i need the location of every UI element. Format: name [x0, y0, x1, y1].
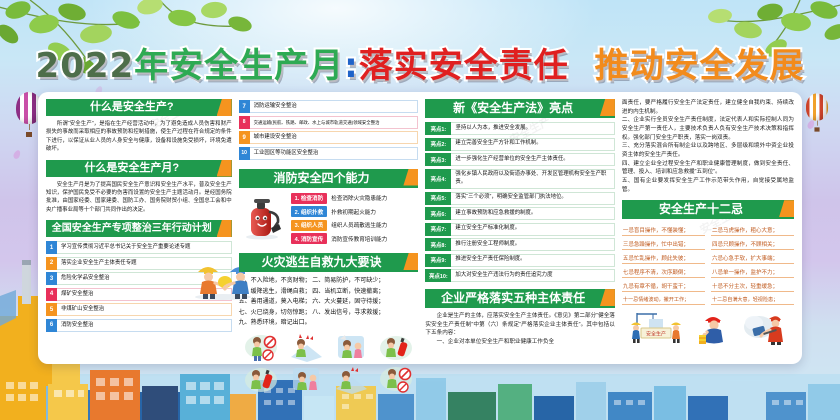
highlight-label: 亮点8:	[425, 238, 451, 251]
section-header-four-abilities: 消防安全四个能力	[239, 169, 419, 188]
item-label: 消防运输安全整治	[250, 100, 419, 113]
highlight-row[interactable]: 亮点3: 进一步强化生产经营单位的安全生产主体责任。	[425, 153, 614, 166]
ability-tag: 3. 组织人员	[291, 220, 328, 231]
what-is-safety-production-body: 所谓“安全生产”，是指在生产经营活动中，为了避免造成人员伤害和财产损失的事故而采…	[46, 120, 232, 154]
foreground-buildings	[0, 360, 230, 420]
item-number: 4	[46, 288, 57, 301]
safety-figure-row-1	[239, 333, 419, 363]
four-abilities-block: 1. 检查消防 检查消除火灾隐患能力 2. 组织扑救 扑救初期起火能力 3. 组…	[239, 193, 419, 245]
item-label: 消防安全整治	[57, 319, 232, 332]
ability-tag: 1. 检查消防	[291, 193, 328, 204]
child-warning-icon	[379, 365, 413, 395]
highlight-row[interactable]: 亮点8: 推行注册安全工程师制度。	[425, 238, 614, 251]
child-warning-icon	[244, 333, 278, 363]
ability-tag: 4. 消防宣传	[291, 233, 328, 244]
fire-extinguisher-icon	[239, 196, 285, 240]
ability-desc: 扑救初期起火能力	[331, 208, 376, 216]
highlight-row[interactable]: 亮点4: 强化乡镇人民政府以及街道办事处、开发区管理机构安全生产职责。	[425, 169, 614, 190]
ability-desc: 组织人员疏散逃生能力	[331, 221, 387, 229]
highlight-row[interactable]: 亮点10: 加大对安全生产违法行为的责任追究力度	[425, 269, 614, 282]
taboo-item: 三忌急躁操作，忙中出错；	[622, 238, 705, 250]
taboo-item: 五忌忙乱操作，顾此失彼；	[622, 252, 705, 264]
firefighter-icon	[743, 311, 789, 345]
item-number: 3	[46, 272, 57, 285]
five-duties-first-item: 一、企业对本单位安全生产和职业健康工作负全	[425, 338, 614, 347]
child-caution-icon	[289, 365, 323, 395]
list-item[interactable]: 9 城市建设安全整治	[239, 131, 419, 144]
what-is-safety-month-body: 安全生产月是为了提高国民安全生产意识和安全生产水平，普及安全生产知识，保护国民免…	[46, 181, 232, 215]
item-number: 9	[239, 131, 250, 144]
tip-line: 五、善用通道，莫入电梯； 六、大火蔓延，固守待援；	[239, 297, 419, 308]
law-highlights-list: 亮点1: 坚持以人为本，推进安全发展。 亮点2: 建立完善安全生产方针和工作机制…	[425, 122, 614, 282]
section-header-twelve-taboos: 安全生产十二忌	[622, 200, 794, 219]
taboo-item: 七忌程序不清，次序颠倒；	[622, 266, 705, 278]
section-header-three-year-plan: 全国安全生产专项整治三年行动计划	[46, 220, 232, 237]
taboo-item: 十二忌自满大意，轻视险患；	[711, 294, 794, 305]
section-header-nine-escape-tips: 火灾逃生自救九大要诀	[239, 253, 419, 272]
highlight-text: 强化乡镇人民政府以及街道办事处、开发区管理机构安全生产职责。	[451, 169, 614, 190]
highlight-text: 坚持以人为本，推进安全发展。	[451, 122, 614, 135]
highlight-row[interactable]: 亮点5: 落实“三个必须”，明确安全监管部门执法地位。	[425, 192, 614, 205]
tip-line: 九、熟悉环境，暗记出口。	[239, 318, 419, 329]
ability-desc: 检查消除火灾隐患能力	[331, 194, 387, 202]
highlight-label: 亮点3:	[425, 153, 451, 166]
three-year-plan-list-continued: 7 消防运输安全整治 8 交通运输(民航、铁路、邮政、水上与城市轨道交通)领域安…	[239, 100, 419, 160]
column-safety-basics: 什么是安全生产? 所谓“安全生产”，是指在生产经营活动中，为了避免造成人员伤害和…	[46, 99, 232, 357]
taboo-item: 一忌盲目操作，不懂装懂；	[622, 224, 705, 236]
section-header-what-is-safety-production: 什么是安全生产?	[46, 99, 232, 116]
safety-figure-row-2	[239, 365, 419, 395]
list-item[interactable]: 10 工业园区等功能区安全整治	[239, 147, 419, 160]
title-year: 2022	[36, 46, 135, 86]
five-duties-continued-body: 面责任，要严格履行安全生产法定责任，建立健全自我约束、持续改进的内生机制。 二、…	[622, 99, 794, 194]
highlight-row[interactable]: 亮点2: 建立完善安全生产方针和工作机制。	[425, 138, 614, 151]
ability-desc: 消防宣传教育培训能力	[331, 235, 387, 243]
item-label: 交通运输(民航、铁路、邮政、水上与城市轨道交通)领域安全整治	[250, 116, 419, 129]
highlight-label: 亮点4:	[425, 169, 451, 190]
section-header-law-highlights: 新《安全生产法》亮点	[425, 99, 614, 118]
highlight-text: 加大对安全生产违法行为的责任追究力度	[451, 269, 614, 282]
ability-tag: 2. 组织扑救	[291, 206, 328, 217]
item-number: 1	[46, 241, 57, 254]
taboo-item: 四忌只顾操作，不顾相关；	[711, 238, 794, 250]
item-label: 城市建设安全整治	[250, 131, 419, 144]
taboo-item: 十忌不分主次，轻重缓急；	[711, 280, 794, 292]
taboo-item: 八忌单一操作，监护不力；	[711, 266, 794, 278]
list-item[interactable]: 6 消防安全整治	[46, 319, 232, 332]
taboo-item: 六忌心急手软，扩大事端；	[711, 252, 794, 264]
item-number: 2	[46, 257, 57, 270]
poster-canvas: 2022年安全生产月:落实安全责任 推动安全发展 安全生产 安全生产 安全生产 …	[0, 0, 840, 420]
page-title: 2022年安全生产月:落实安全责任 推动安全发展	[0, 38, 840, 87]
list-item[interactable]: 8 交通运输(民航、铁路、邮政、水上与城市轨道交通)领域安全整治	[239, 116, 419, 129]
tip-line: 三、缓降逃生，滑绳自救； 四、当机立断，快速撤离；	[239, 287, 419, 298]
highlight-text: 进一步强化生产经营单位的安全生产主体责任。	[451, 153, 614, 166]
highlight-text: 建立安全生产标准化制度。	[451, 223, 614, 236]
taboo-item: 二忌马虎操作，粗心大意；	[711, 224, 794, 236]
list-item[interactable]: 5 非煤矿山安全整治	[46, 303, 232, 316]
highlight-text: 落实“三个必须”，明确安全监管部门执法地位。	[451, 192, 614, 205]
item-number: 6	[46, 319, 57, 332]
highlight-label: 亮点9:	[425, 254, 451, 267]
column-duties-and-taboos: 面责任，要严格履行安全生产法定责任，建立健全自我约束、持续改进的内生机制。 二、…	[622, 99, 794, 357]
nine-escape-tips-list: 一、不入险地，不贪财物； 二、简易防护，不可缺少； 三、缓降逃生，滑绳自救； 四…	[239, 276, 419, 329]
five-duties-body: 企业是生产的主体，应落实安全生产主体责任。《意见》第二部分“健全落实安全生产责任…	[425, 312, 614, 338]
twelve-taboos-list: 一忌盲目操作，不懂装懂； 二忌马虎操作，粗心大意； 三忌急躁操作，忙中出错； 四…	[622, 224, 794, 305]
highlight-label: 亮点7:	[425, 223, 451, 236]
child-fall-icon	[289, 333, 323, 363]
taboo-item: 十一忌情绪波动，撇开工作；	[622, 294, 705, 305]
item-number: 8	[239, 116, 250, 129]
column-fire-safety: 7 消防运输安全整治 8 交通运输(民航、铁路、邮政、水上与城市轨道交通)领域安…	[239, 99, 419, 357]
ability-row[interactable]: 1. 检查消防 检查消除火灾隐患能力	[291, 193, 388, 204]
hot-air-balloon-right-icon	[806, 93, 828, 131]
ability-row[interactable]: 2. 组织扑救 扑救初期起火能力	[291, 206, 388, 217]
section-header-what-is-safety-month: 什么是安全生产月?	[46, 160, 232, 177]
highlight-text: 推进安全生产责任保险制度。	[451, 254, 614, 267]
worker-figure-row: 安全生产	[622, 311, 794, 345]
highlight-row[interactable]: 亮点7: 建立安全生产标准化制度。	[425, 223, 614, 236]
content-board: 安全生产 安全生产 安全生产 什么是安全生产? 所谓“安全生产”，是指在生产经营…	[38, 92, 802, 364]
highlight-label: 亮点2:	[425, 138, 451, 151]
highlight-row[interactable]: 亮点9: 推进安全生产责任保险制度。	[425, 254, 614, 267]
child-fire-icon	[379, 333, 413, 363]
highlight-row[interactable]: 亮点6: 建立事故预防和应急救援的制度。	[425, 207, 614, 220]
tip-line: 七、火已烧身，切勿惊跑； 八、发出信号，寻求救援；	[239, 308, 419, 319]
banner-text: 安全生产	[646, 331, 666, 338]
child-fire-icon	[244, 365, 278, 395]
highlight-label: 亮点6:	[425, 207, 451, 220]
item-label: 工业园区等功能区安全整治	[250, 147, 419, 160]
child-fall-icon	[334, 365, 368, 395]
list-item[interactable]: 7 消防运输安全整治	[239, 100, 419, 113]
item-number: 10	[239, 147, 250, 160]
item-label: 非煤矿山安全整治	[57, 303, 232, 316]
title-part2: 落实安全责任	[359, 46, 569, 86]
highlight-text: 建立完善安全生产方针和工作机制。	[451, 138, 614, 151]
item-number: 7	[239, 100, 250, 113]
title-colon: :	[344, 46, 359, 86]
highlight-label: 亮点10:	[425, 269, 451, 282]
workers-banner-icon: 安全生产	[627, 311, 685, 345]
ability-row[interactable]: 4. 消防宣传 消防宣传教育培训能力	[291, 233, 388, 244]
taboo-item: 九忌有章不循，胡干蛮干；	[622, 280, 705, 292]
welder-icon	[695, 311, 733, 345]
section-header-five-duties: 企业严格落实五种主体责任	[425, 289, 614, 308]
highlight-label: 亮点5:	[425, 192, 451, 205]
ability-row[interactable]: 3. 组织人员 组织人员疏散逃生能力	[291, 220, 388, 231]
tip-line: 一、不入险地，不贪财物； 二、简易防护，不可缺少；	[239, 276, 419, 287]
column-safety-law-highlights: 新《安全生产法》亮点 亮点1: 坚持以人为本，推进安全发展。 亮点2: 建立完善…	[425, 99, 614, 357]
title-part1: 年安全生产月	[134, 46, 344, 86]
child-caution-icon	[334, 333, 368, 363]
highlight-label: 亮点1:	[425, 122, 451, 135]
item-number: 5	[46, 303, 57, 316]
highlight-text: 推行注册安全工程师制度。	[451, 238, 614, 251]
highlight-text: 建立事故预防和应急救援的制度。	[451, 207, 614, 220]
highlight-row[interactable]: 亮点1: 坚持以人为本，推进安全发展。	[425, 122, 614, 135]
title-part3: 推动安全发展	[594, 46, 804, 86]
